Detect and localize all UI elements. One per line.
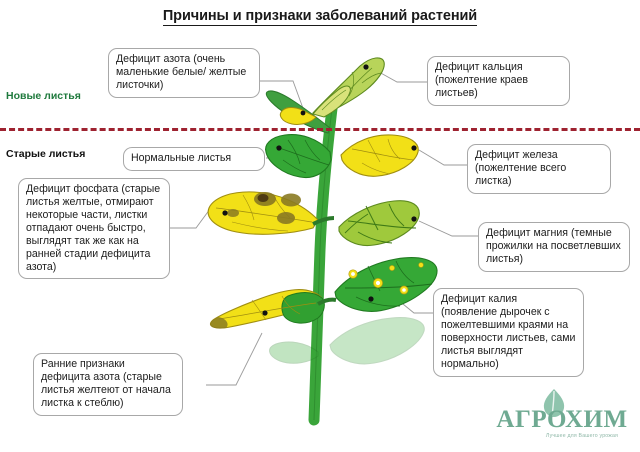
section-label-new-leaves: Новые листья: [6, 90, 81, 102]
callout-calcium[interactable]: Дефицит кальция (пожелтение краев листье…: [427, 56, 570, 106]
leader-phosphate: [170, 209, 210, 228]
callout-phosphate[interactable]: Дефицит фосфата (старые листья желтые, о…: [18, 178, 170, 279]
leaf-iron: [341, 135, 418, 176]
section-divider: [0, 128, 640, 131]
logo-tagline: Лучшее для Вашего урожая: [527, 433, 637, 439]
leaf-magnesium: [339, 201, 419, 246]
leader-nitrogen-early: [206, 333, 262, 385]
section-label-old-leaves: Старые листья: [6, 148, 85, 160]
infographic-page: Причины и признаки заболеваний растений: [0, 0, 640, 452]
callout-magnesium[interactable]: Дефицит магния (темные прожилки на посве…: [478, 222, 630, 272]
callout-iron[interactable]: Дефицит железа (пожелтение всего листка): [467, 144, 611, 194]
leader-iron: [419, 150, 467, 165]
callout-normal-leaves[interactable]: Нормальные листья: [123, 147, 265, 171]
leader-magnesium: [419, 221, 478, 236]
callout-nitrogen-early[interactable]: Ранние признаки дефицита азота (старые л…: [33, 353, 183, 416]
callout-nitrogen-severe[interactable]: Дефицит азота (очень маленькие белые/ же…: [108, 48, 260, 98]
leaf-phosphate: [208, 192, 334, 234]
logo[interactable]: АГРОХИМ Лучшее для Вашего урожая: [487, 392, 637, 448]
leaf-lower-left: [270, 342, 318, 363]
callout-potassium[interactable]: Дефицит калия (появление дырочек с пожел…: [433, 288, 584, 377]
leaf-calcium-lower: [313, 86, 350, 117]
leaf-potassium: [335, 258, 437, 312]
leaf-lower-right: [330, 318, 424, 364]
leaf-normal: [266, 135, 331, 178]
logo-wordmark: АГРОХИМ: [487, 406, 637, 434]
